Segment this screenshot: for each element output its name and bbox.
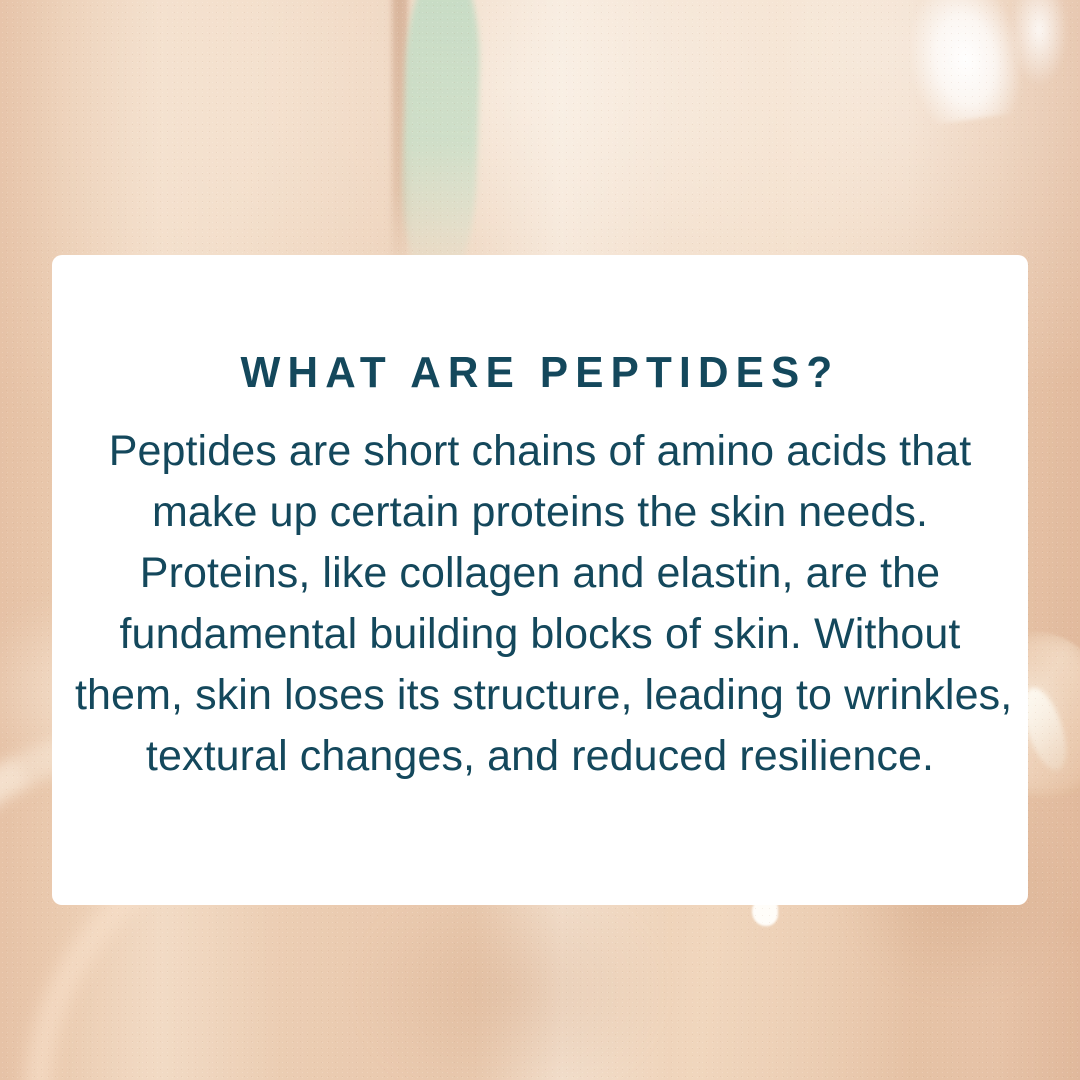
body-line: make up certain proteins the skin needs. [75, 482, 1005, 543]
body-line: them, skin loses its structure, leading … [75, 665, 1005, 726]
card-heading: WHAT ARE PEPTIDES? [241, 255, 840, 395]
body-line: Proteins, like collagen and elastin, are… [75, 543, 1005, 604]
body-line: fundamental building blocks of skin. Wit… [75, 604, 1005, 665]
card-body-text: Peptides are short chains of amino acids… [75, 395, 1005, 787]
body-line: Peptides are short chains of amino acids… [75, 421, 1005, 482]
body-line: textural changes, and reduced resilience… [75, 726, 1005, 787]
graphic-canvas: WHAT ARE PEPTIDES? Peptides are short ch… [0, 0, 1080, 1080]
info-card: WHAT ARE PEPTIDES? Peptides are short ch… [52, 255, 1028, 905]
